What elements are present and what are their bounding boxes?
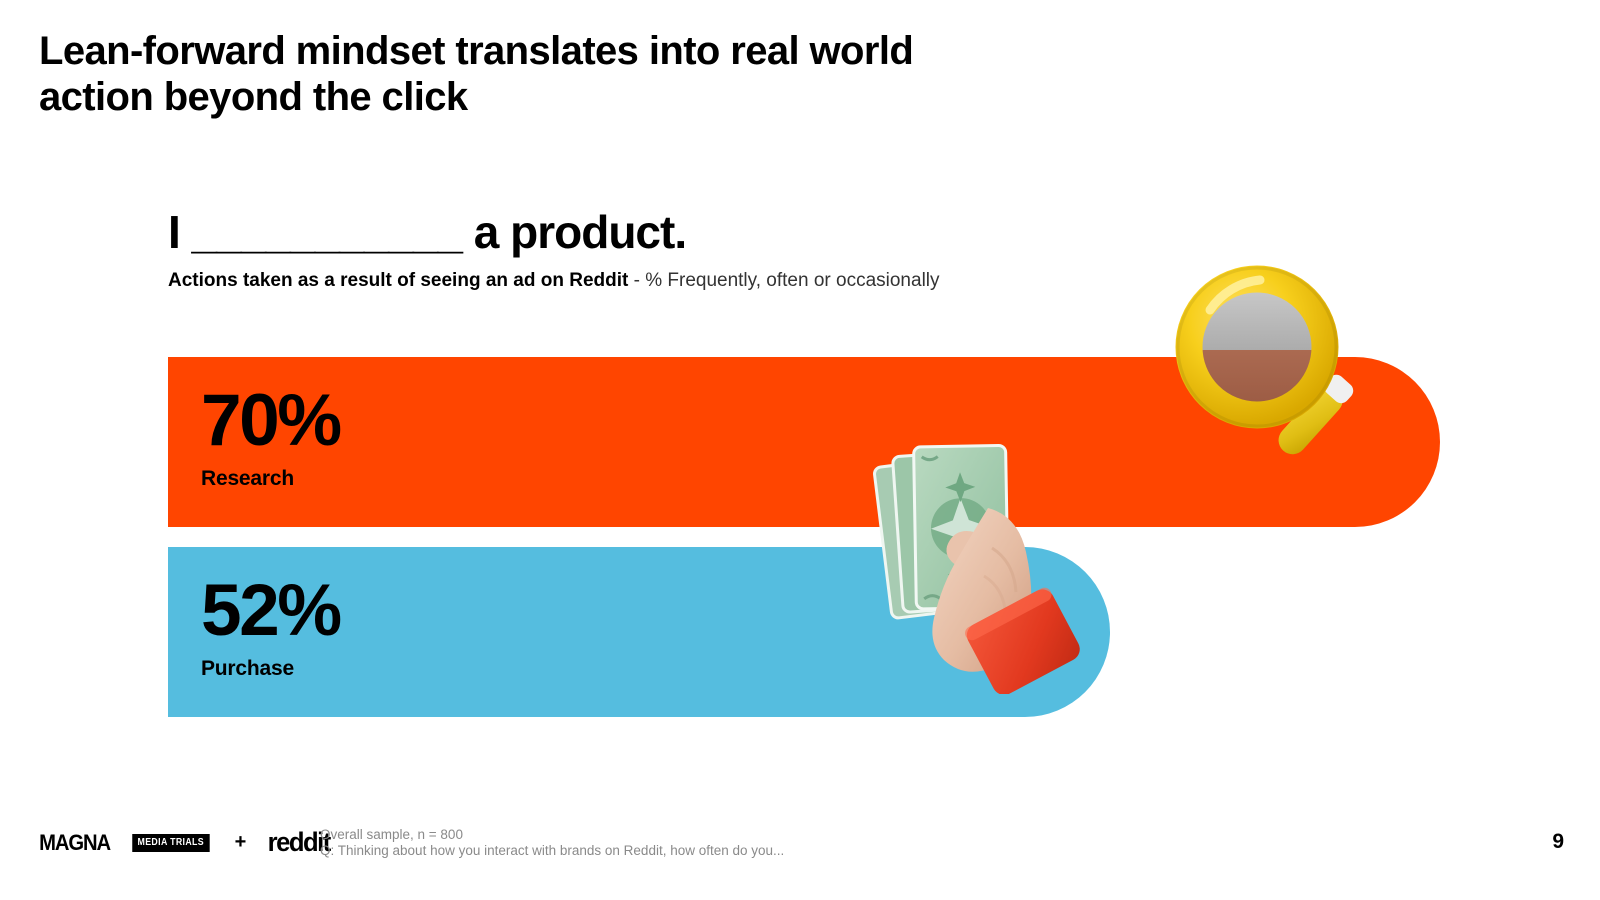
source-sample-line: Overall sample, n = 800 <box>320 827 784 843</box>
logo-strip: MAGNA MEDIA TRIALS + reddit <box>36 827 332 858</box>
chart-prompt-title: I ___________ a product. <box>168 205 1568 259</box>
bar-label-group-purchase: 52% Purchase <box>201 575 340 681</box>
page-number: 9 <box>1552 830 1564 854</box>
bar-value-purchase: 52% <box>201 575 340 647</box>
bar-value-research: 70% <box>201 385 340 457</box>
media-trials-logo: MEDIA TRIALS <box>132 834 209 852</box>
bar-category-purchase: Purchase <box>201 657 340 681</box>
bar-chart: 70% Research 52% Purchase <box>168 357 1568 719</box>
chart-subtitle-normal: - % Frequently, often or occasionally <box>628 270 939 291</box>
bar-label-group-research: 70% Research <box>201 385 340 491</box>
chart-subtitle-strong: Actions taken as a result of seeing an a… <box>168 270 628 291</box>
magna-logo: MAGNA <box>39 830 110 856</box>
page-title: Lean-forward mindset translates into rea… <box>39 28 1139 120</box>
bar-research <box>168 357 1440 527</box>
source-question-line: Q: Thinking about how you interact with … <box>320 843 784 859</box>
chart-header-block: I ___________ a product. Actions taken a… <box>168 205 1568 293</box>
plus-separator-icon: + <box>235 831 247 854</box>
chart-subtitle: Actions taken as a result of seeing an a… <box>168 269 1568 293</box>
bar-category-research: Research <box>201 467 340 491</box>
source-note: Overall sample, n = 800 Q: Thinking abou… <box>320 827 784 859</box>
slide-footer: MAGNA MEDIA TRIALS + reddit Overall samp… <box>0 810 1600 900</box>
